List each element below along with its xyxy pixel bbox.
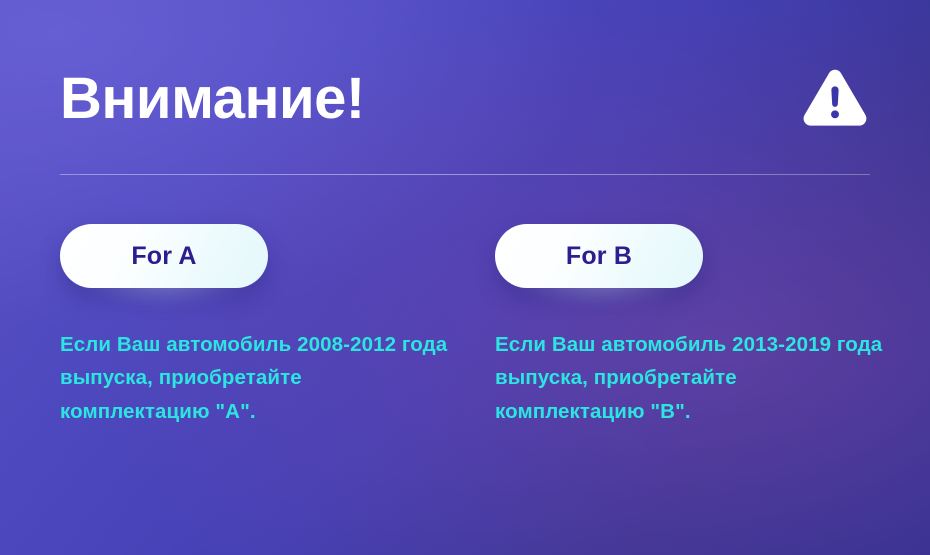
for-a-button-wrap: For A (60, 224, 268, 288)
banner-header: Внимание! (60, 56, 870, 142)
option-a-description: Если Ваш автомобиль 2008-2012 года выпус… (60, 328, 450, 428)
for-b-button-wrap: For B (495, 224, 703, 288)
for-b-button-label: For B (566, 244, 632, 269)
option-b-description: Если Ваш автомобиль 2013-2019 года выпус… (495, 328, 885, 428)
for-a-button-label: For A (131, 244, 196, 269)
options-row: For A Если Ваш автомобиль 2008-2012 года… (60, 224, 870, 428)
for-b-button[interactable]: For B (495, 224, 703, 288)
warning-triangle-icon (800, 64, 870, 134)
option-column-b: For B Если Ваш автомобиль 2013-2019 года… (495, 224, 703, 428)
attention-banner: Внимание! For A Если Ваш автомобиль 2008… (0, 0, 930, 555)
option-column-a: For A Если Ваш автомобиль 2008-2012 года… (60, 224, 268, 428)
page-title: Внимание! (60, 70, 365, 128)
for-a-button[interactable]: For A (60, 224, 268, 288)
header-divider (60, 174, 870, 175)
